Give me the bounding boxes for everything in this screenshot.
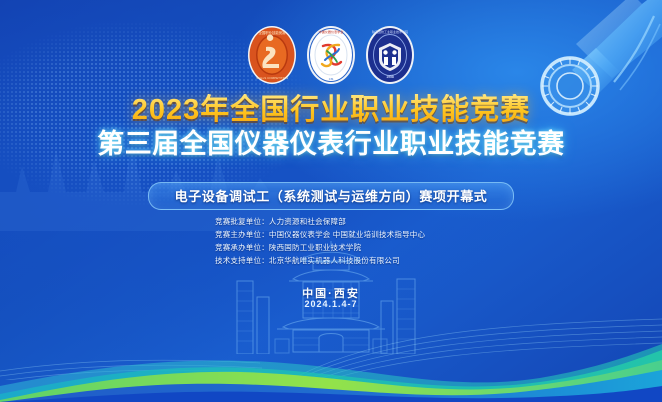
organizer-line: 竞赛主办单位：中国仪器仪表学会 中国就业培训技术指导中心 [215,229,447,240]
competition-opening-ceremony-banner: 全国职业技能竞赛 SKILLS COMPETITION 中国仪器仪表学会 CIS [0,0,662,402]
title-line-2: 第三届全国仪器仪表行业职业技能竞赛 [0,129,662,160]
subtitle-pill: 电子设备调试工（系统测试与运维方向）赛项开幕式 [148,182,515,210]
svg-text:陕西国防工业职业技术学院: 陕西国防工业职业技术学院 [372,29,408,34]
logo-national-vocational-skills-competition-emblem: 全国职业技能竞赛 SKILLS COMPETITION [246,24,298,86]
svg-text:全国职业技能竞赛: 全国职业技能竞赛 [258,30,286,35]
svg-text:SKILLS COMPETITION: SKILLS COMPETITION [256,76,288,80]
svg-text:中国仪器仪表学会: 中国仪器仪表学会 [319,29,344,34]
organizer-line: 竞赛承办单位：陕西国防工业职业技术学院 [215,242,447,253]
organizer-list: 竞赛批复单位：人力资源和社会保障部 竞赛主办单位：中国仪器仪表学会 中国就业培训… [0,216,662,266]
title-line-1: 2023年全国行业职业技能竞赛 [0,94,662,126]
organizer-line: 技术支持单位：北京华航唯实机器人科技股份有限公司 [215,255,447,266]
logo-china-instrument-society-emblem: 中国仪器仪表学会 CIS [305,24,357,86]
event-date: 2024.1.4-7 [0,299,662,309]
svg-text:CIS: CIS [329,77,334,81]
subtitle-pill-wrapper: 电子设备调试工（系统测试与运维方向）赛项开幕式 [0,182,662,210]
organizer-line: 竞赛批复单位：人力资源和社会保障部 [215,216,447,227]
headline-block: 2023年全国行业职业技能竞赛 第三届全国仪器仪表行业职业技能竞赛 [0,94,662,160]
organizer-logos: 全国职业技能竞赛 SKILLS COMPETITION 中国仪器仪表学会 CIS [0,24,662,86]
logo-year-1958: 1958 [386,75,394,79]
logo-shaanxi-defense-vocational-college-emblem: 陕西国防工业职业技术学院 1958 [364,24,416,86]
